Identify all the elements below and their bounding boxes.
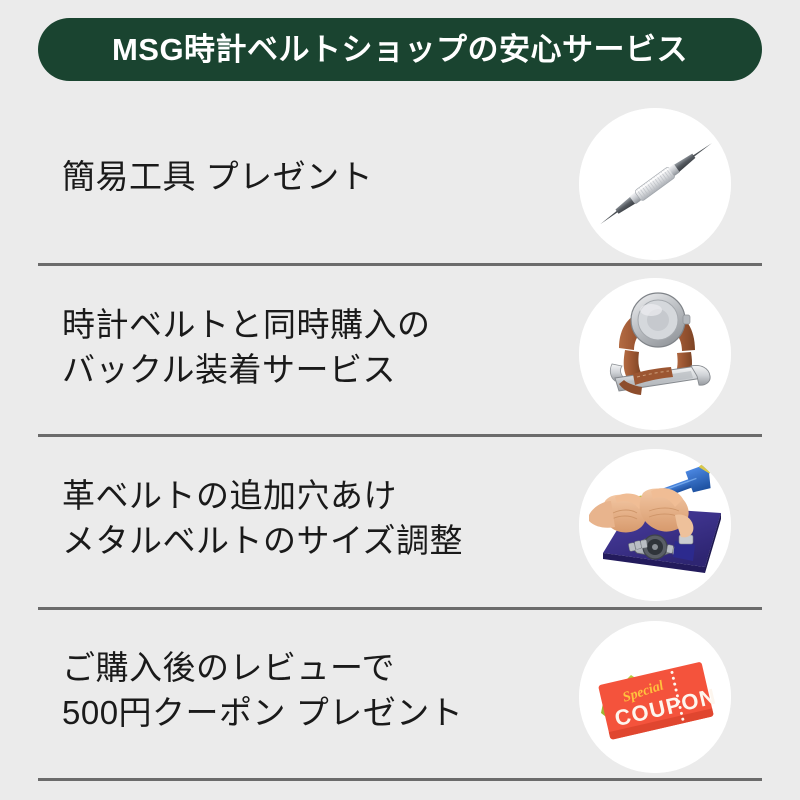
service-banner: MSG時計ベルトショップの安心サービス 簡易工具 プレゼント 簡易工具（バネ棒外… bbox=[0, 0, 800, 800]
thumb-spring-bar-tool: 簡易工具（バネ棒外し）の写真 bbox=[579, 108, 731, 260]
service-line: 簡易工具 プレゼント bbox=[62, 155, 373, 200]
service-text-review-coupon: ご購入後のレビューで 500円クーポン プレゼント bbox=[62, 646, 463, 735]
service-line: 革ベルトの追加穴あけ bbox=[62, 474, 463, 519]
service-line: 500円クーポン プレゼント bbox=[62, 691, 463, 736]
service-text-free-tool: 簡易工具 プレゼント bbox=[62, 155, 373, 200]
thumb-special-coupon: Special COUPON と書かれたクーポン券のイラスト bbox=[579, 621, 731, 773]
row-divider bbox=[38, 607, 762, 610]
service-line: メタルベルトのサイズ調整 bbox=[62, 519, 463, 564]
service-text-buckle-fitting: 時計ベルトと同時購入の バックル装着サービス bbox=[62, 303, 431, 392]
row-divider bbox=[38, 434, 762, 437]
service-line: バックル装着サービス bbox=[62, 348, 431, 393]
thumb-belt-adjustment: 工具で時計ベルトのサイズ調整をしている手の写真 bbox=[579, 449, 731, 601]
thumb-watch-with-buckle: 茶色の革ベルトとDバックルを装着した腕時計の写真 bbox=[579, 278, 731, 430]
service-line: ご購入後のレビューで bbox=[62, 646, 463, 691]
service-line: 時計ベルトと同時購入の bbox=[62, 303, 431, 348]
row-divider bbox=[38, 778, 762, 781]
row-divider bbox=[38, 263, 762, 266]
header-pill: MSG時計ベルトショップの安心サービス bbox=[38, 18, 762, 81]
page-title: MSG時計ベルトショップの安心サービス bbox=[112, 34, 688, 65]
service-text-size-adjustment: 革ベルトの追加穴あけ メタルベルトのサイズ調整 bbox=[62, 474, 463, 563]
